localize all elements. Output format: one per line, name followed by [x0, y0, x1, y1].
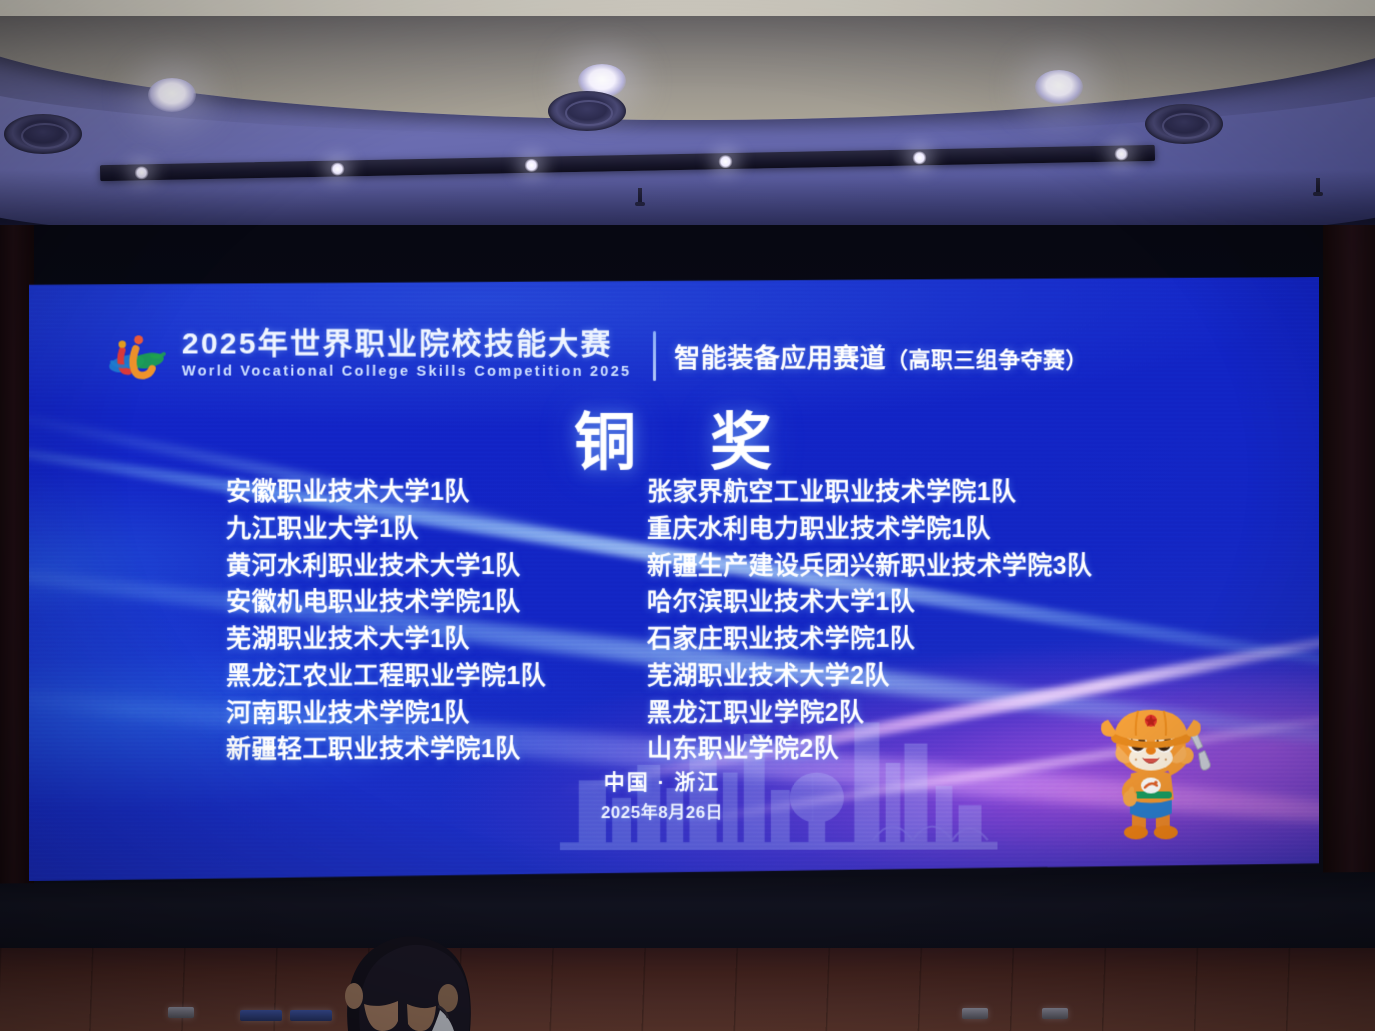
team-item: 芜湖职业技术大学1队 [226, 621, 647, 658]
floor-light [168, 1007, 194, 1018]
photo-scene: 2025年世界职业院校技能大赛 World Vocational College… [0, 0, 1375, 1031]
team-item: 新疆轻工职业技术学院1队 [226, 731, 647, 768]
competition-title-block: 2025年世界职业院校技能大赛 World Vocational College… [182, 328, 631, 383]
ceiling-downlight [148, 78, 196, 112]
track-subtitle-main: 智能装备应用赛道 [674, 343, 886, 373]
team-item: 新疆生产建设兵团兴新职业技术学院3队 [647, 547, 1206, 584]
stage-skirt [0, 872, 1375, 954]
team-item: 芜湖职业技术大学2队 [647, 658, 1206, 695]
slide-header: 2025年世界职业院校技能大赛 World Vocational College… [101, 328, 1088, 384]
competition-title-cn: 2025年世界职业院校技能大赛 [182, 328, 631, 360]
wvcsc-logo-icon [101, 330, 175, 382]
team-item: 哈尔滨职业技术大学1队 [647, 584, 1206, 621]
team-item: 黄河水利职业技术大学1队 [226, 547, 647, 584]
track-lamp [1114, 147, 1129, 160]
track-subtitle-paren: （高职三组争夺赛） [886, 347, 1088, 372]
team-item: 九江职业大学1队 [226, 511, 647, 548]
track-lamp [718, 155, 733, 168]
team-item: 河南职业技术学院1队 [226, 695, 647, 732]
team-item: 重庆水利电力职业技术学院1队 [647, 511, 1206, 548]
competition-title-en: World Vocational College Skills Competit… [182, 361, 631, 383]
stage-floor [0, 948, 1375, 1031]
ceiling-downlight [1035, 70, 1083, 104]
team-item: 安徽职业技术大学1队 [226, 474, 647, 511]
header-divider [653, 331, 656, 381]
team-item: 黑龙江农业工程职业学院1队 [226, 658, 647, 695]
ceiling-vent [1145, 104, 1223, 144]
team-item: 安徽机电职业技术学院1队 [226, 584, 647, 621]
floor-light [1042, 1008, 1068, 1019]
floor-light [240, 1010, 282, 1021]
ceiling-vent [548, 91, 626, 131]
team-column-left: 安徽职业技术大学1队 九江职业大学1队 黄河水利职业技术大学1队 安徽机电职业技… [226, 474, 647, 769]
ceiling-vent [4, 114, 82, 154]
audience-person-silhouette [318, 888, 500, 1031]
team-item: 石家庄职业技术学院1队 [647, 621, 1206, 658]
team-item: 张家界航空工业职业技术学院1队 [647, 474, 1206, 511]
floor-light [962, 1008, 988, 1019]
slide-content: 2025年世界职业院校技能大赛 World Vocational College… [29, 275, 1319, 881]
track-lamp [912, 151, 927, 164]
track-subtitle: 智能装备应用赛道（高职三组争夺赛） [674, 338, 1088, 375]
award-title: 铜 奖 [29, 391, 1319, 482]
competition-mascot-icon [1086, 700, 1215, 850]
led-screen: 2025年世界职业院校技能大赛 World Vocational College… [29, 275, 1319, 881]
led-screen-surface: 2025年世界职业院校技能大赛 World Vocational College… [29, 275, 1319, 881]
